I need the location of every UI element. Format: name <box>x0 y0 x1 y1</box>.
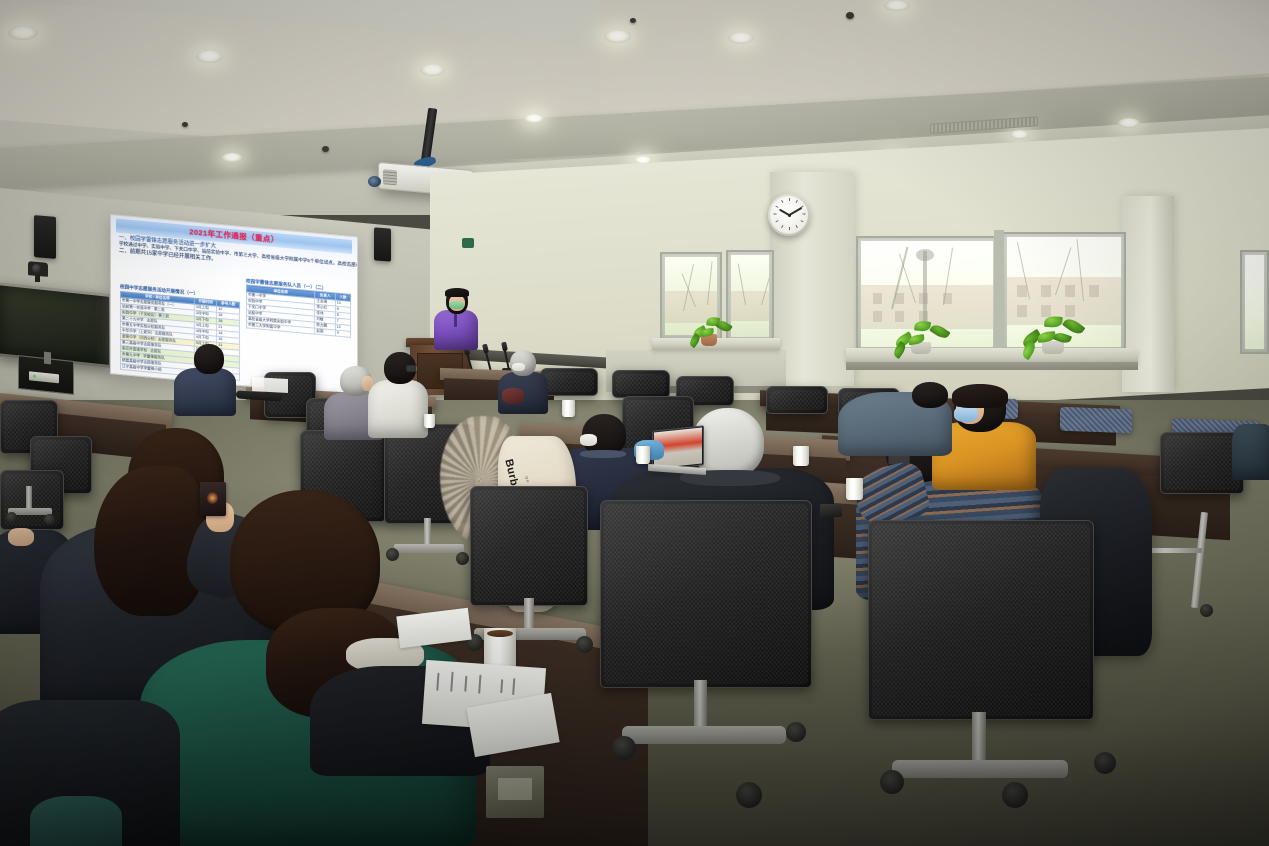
projector-vent <box>383 169 397 185</box>
person-presenter <box>428 288 484 348</box>
handwriting-line <box>450 672 453 692</box>
handwriting-line <box>512 678 515 695</box>
building-window <box>1065 285 1075 297</box>
table-caster <box>1200 604 1213 617</box>
ceiling-light <box>524 114 544 123</box>
attendee-face-mask <box>512 363 525 371</box>
window-mullion <box>994 230 1004 354</box>
person-attendee-white-shirt <box>368 352 430 436</box>
ceiling-light <box>884 0 910 11</box>
attendee-scarf <box>502 388 524 404</box>
building-window <box>873 293 882 304</box>
chair-foreground-right[interactable] <box>868 520 1094 720</box>
clock-tick <box>774 214 777 215</box>
window-sill-shadow <box>846 362 1138 370</box>
chair-caster <box>576 636 593 653</box>
table-cell: 赵丽 <box>315 328 335 336</box>
chair-center-2[interactable] <box>612 370 670 398</box>
chair-foreground-center[interactable] <box>600 500 812 688</box>
chair-base <box>622 726 786 744</box>
chair-empty-right-a[interactable] <box>1060 407 1132 434</box>
handwriting-line <box>500 679 503 693</box>
attendee-torso <box>174 368 236 416</box>
attendee-face-mask <box>580 434 597 446</box>
chair-caster <box>736 782 762 808</box>
foreground-teal-accent <box>30 796 122 846</box>
attendee-hand <box>8 528 34 546</box>
clock-tick <box>796 200 798 203</box>
sprinkler-head <box>630 18 636 23</box>
sprinkler-head <box>846 12 854 19</box>
table-cell: 9 <box>335 330 350 337</box>
ceiling-light <box>196 50 223 63</box>
handwriting-line <box>436 673 439 691</box>
chair-caster <box>786 722 806 742</box>
clock-tick <box>789 227 790 230</box>
slide-table-right-wrapper: 校园学雷锋志愿服务队人员（一）（二） 单位名称 负责人 人数 市第一中学王志强1… <box>246 279 351 337</box>
person-attendee-edge-right <box>1232 408 1269 478</box>
ceiling-light <box>1118 118 1140 128</box>
projector-lens <box>368 176 381 187</box>
attendee-face-mask <box>954 406 978 422</box>
attendee-torso <box>1232 424 1269 480</box>
paper-cup[interactable] <box>562 400 575 417</box>
clock-tick <box>781 200 783 203</box>
jacket-brand-sub-wrap: OF LONDON <box>528 476 538 486</box>
av-device-led <box>33 375 36 378</box>
clock-tick <box>775 220 778 222</box>
chair-mesh-texture <box>604 504 808 684</box>
box-label <box>498 778 532 800</box>
ceiling-light <box>8 26 38 40</box>
wall-clock <box>768 194 810 236</box>
plant-leaf <box>1044 316 1063 328</box>
sprinkler-head <box>322 146 329 152</box>
window-glass <box>1245 255 1264 349</box>
handwriting-line <box>464 676 467 692</box>
chair-mesh-texture <box>474 490 584 602</box>
paper-cup[interactable] <box>793 446 809 466</box>
chair-base <box>892 760 1068 778</box>
wall-display[interactable] <box>0 282 112 368</box>
chair-mesh-texture <box>616 374 666 394</box>
plant-leaf <box>929 322 950 341</box>
clock-tick <box>781 225 783 228</box>
attendee-glasses <box>406 365 418 372</box>
window-far-right <box>1240 250 1269 354</box>
attendee-head <box>912 382 948 408</box>
paper-sheet[interactable] <box>252 377 288 393</box>
plant-pot <box>1042 341 1064 354</box>
paper-cup[interactable] <box>846 478 863 500</box>
presenter-lanyard <box>454 314 457 327</box>
person-attendee-teal-jacket <box>838 382 954 458</box>
presenter-hair-fringe <box>445 288 469 297</box>
jacket-brand-text: Burbaidas <box>502 458 516 470</box>
chair-midleft-tall[interactable] <box>470 486 588 606</box>
ceiling-camera <box>462 238 474 248</box>
ceiling-light <box>420 64 445 76</box>
webcam-lens <box>32 264 41 273</box>
chair-caster <box>612 736 636 760</box>
clock-tick <box>796 225 798 228</box>
attendee-torso <box>368 380 428 438</box>
clock-tick <box>789 198 790 201</box>
window-glass <box>731 255 769 337</box>
potted-plant-left <box>688 312 730 346</box>
pole-cap <box>916 249 934 261</box>
clock-tick <box>775 206 778 208</box>
clock-minute-hand <box>789 207 803 216</box>
person-foreground-bottom-left <box>0 700 190 846</box>
person-attendee-dark-midleft <box>498 350 550 412</box>
wall-speaker-left <box>34 215 56 259</box>
clock-tick <box>801 220 804 222</box>
chair-caster <box>1002 782 1028 808</box>
jacket-brand-text-wrap: Burbaidas <box>514 458 524 468</box>
chair-gas-cylinder <box>694 680 707 732</box>
chair-mesh-texture <box>770 390 824 410</box>
building-window <box>1089 285 1099 297</box>
display-screen <box>0 285 109 365</box>
person-attendee-blue-front-left <box>174 344 238 414</box>
presenter-face-mask <box>449 301 464 309</box>
chair-caster <box>1094 752 1116 774</box>
attendee-head <box>194 344 224 374</box>
ceiling-light <box>728 32 754 44</box>
clock-tick <box>803 214 806 215</box>
display-stand-arm <box>44 352 51 365</box>
conference-room-photo: 2021年工作通报（重点） 一、校园学雷锋志愿服务活动进一步扩大 学校通过中学、… <box>0 0 1269 846</box>
wall-speaker-center <box>374 227 391 261</box>
building-window <box>873 311 882 322</box>
chair-mesh-texture <box>1164 436 1240 490</box>
webcam-stem <box>35 274 40 282</box>
cup-contents <box>487 630 513 637</box>
clock-center-pin <box>788 214 791 217</box>
potted-plant-right-b <box>1020 314 1082 354</box>
chair-mesh-texture <box>872 524 1090 716</box>
ceiling-light <box>604 30 631 43</box>
attendee-hair-bob <box>952 384 1008 408</box>
chair-mesh-texture <box>544 372 594 392</box>
ceiling-light <box>1010 130 1029 139</box>
slide-table-right: 校园学雷锋志愿服务队人员（一）（二） 单位名称 负责人 人数 市第一中学王志强1… <box>246 279 351 337</box>
clock-face <box>770 196 808 234</box>
ceiling-light <box>222 153 242 162</box>
building-window <box>1041 285 1051 297</box>
window-left-b <box>726 250 774 342</box>
utility-pole <box>923 251 927 323</box>
chair-caster <box>880 770 904 794</box>
small-dark-object[interactable] <box>820 504 842 517</box>
sprinkler-head <box>182 122 188 127</box>
paper-cup[interactable] <box>636 446 650 464</box>
paper-cup[interactable] <box>424 414 435 428</box>
handwriting-line <box>478 675 481 694</box>
potted-plant-right-a <box>892 318 948 354</box>
